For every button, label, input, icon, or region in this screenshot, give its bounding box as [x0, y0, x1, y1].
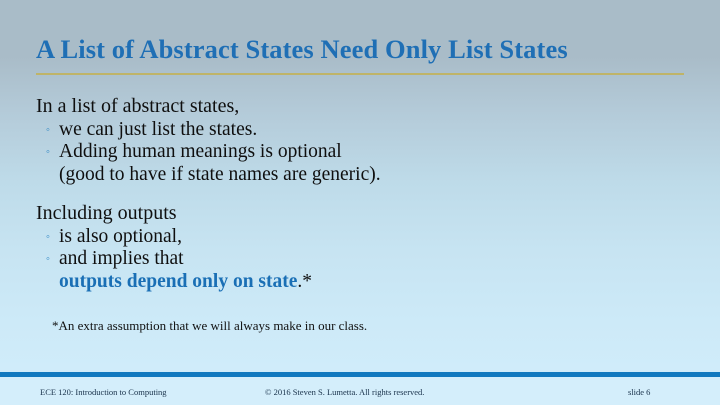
- list-item-label: is also optional,: [59, 226, 182, 247]
- hollow-circle-bullet-icon: ◦: [46, 141, 50, 164]
- footer-course-label: ECE 120: Introduction to Computing: [40, 387, 167, 398]
- list-item: ◦ Adding human meanings is optional (goo…: [36, 141, 686, 186]
- list-item-label: we can just list the states.: [59, 119, 257, 140]
- section-spacer: [36, 186, 686, 202]
- list-item: ◦ we can just list the states.: [36, 119, 686, 142]
- hollow-circle-bullet-icon: ◦: [46, 248, 50, 271]
- title-divider: [36, 73, 684, 75]
- slide-body: In a list of abstract states, ◦ we can j…: [36, 95, 686, 293]
- list-item-label: Adding human meanings is optional: [59, 141, 342, 162]
- hollow-circle-bullet-icon: ◦: [46, 119, 50, 142]
- footnote-marker: .*: [297, 271, 312, 292]
- list-item: ◦ and implies that outputs depend only o…: [36, 248, 686, 293]
- page-title: A List of Abstract States Need Only List…: [36, 33, 686, 65]
- slide-canvas: A List of Abstract States Need Only List…: [0, 0, 720, 405]
- list-item-continuation: (good to have if state names are generic…: [59, 164, 686, 187]
- body-heading-1: In a list of abstract states,: [36, 95, 686, 118]
- footer-copyright-label: © 2016 Steven S. Lumetta. All rights res…: [265, 387, 424, 398]
- footnote-text: *An extra assumption that we will always…: [52, 318, 367, 334]
- hollow-circle-bullet-icon: ◦: [46, 226, 50, 249]
- list-item-label: and implies that: [59, 248, 184, 269]
- body-heading-2: Including outputs: [36, 202, 686, 225]
- list-item-continuation: outputs depend only on state.*: [59, 271, 686, 294]
- footer-slide-number: slide 6: [628, 387, 650, 398]
- list-item: ◦ is also optional,: [36, 226, 686, 249]
- emphasized-phrase: outputs depend only on state: [59, 271, 297, 292]
